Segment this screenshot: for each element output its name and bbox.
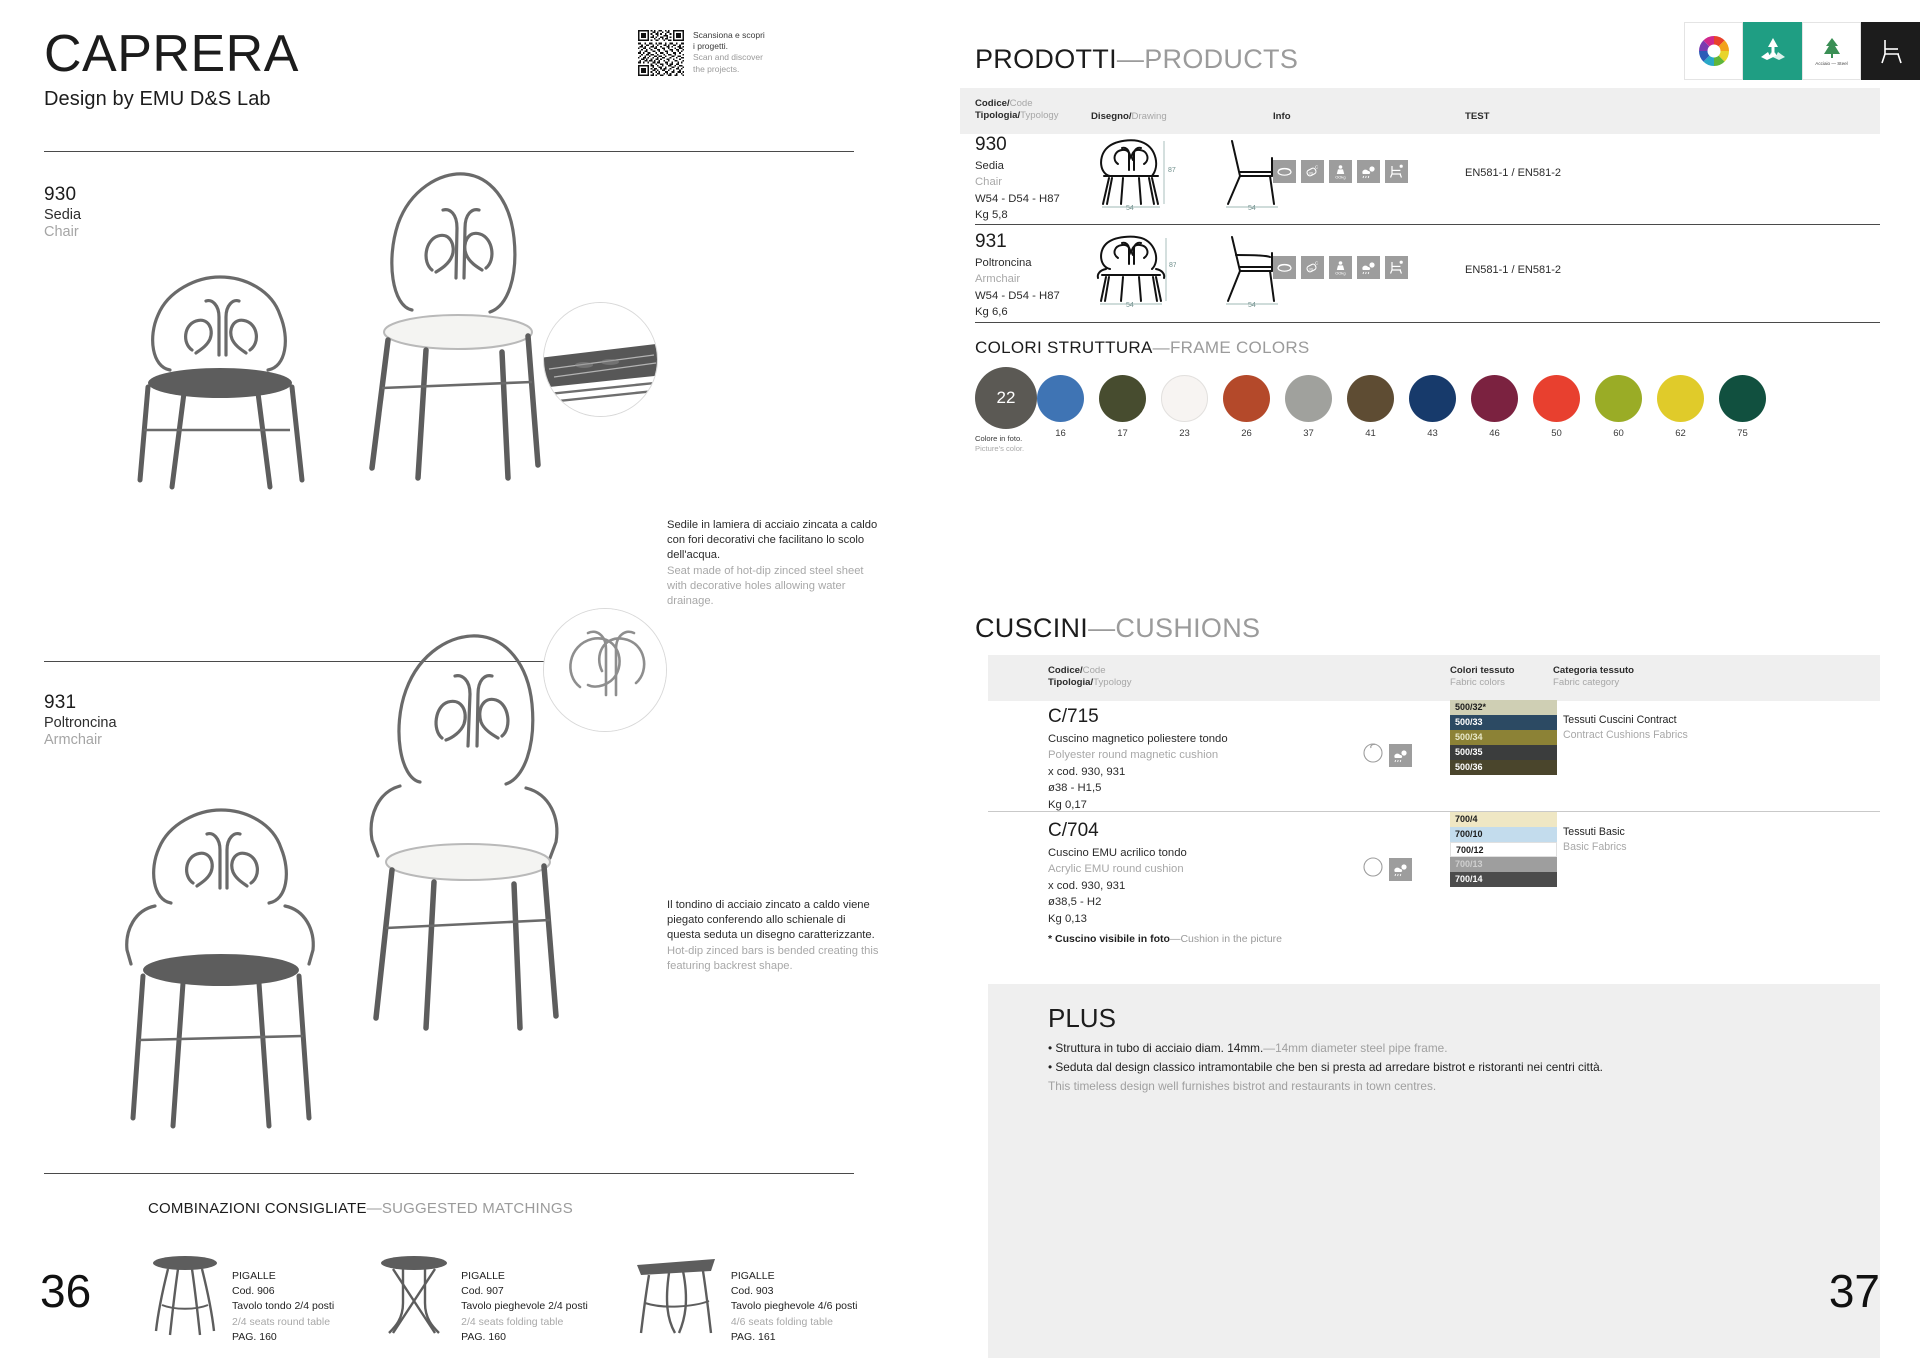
catalog-spread: CAPRERA Design by EMU D&S Lab xyxy=(0,0,1920,1358)
weather-sun-icon xyxy=(1389,858,1412,881)
cushion-715-details: Cuscino magnetico poliestere tondo Polye… xyxy=(1048,731,1228,813)
color-wheel-badge xyxy=(1684,22,1743,80)
plus-title: PLUS xyxy=(1048,1003,1116,1034)
cushion-715-code: C/715 xyxy=(1048,706,1099,728)
fabric-chip[interactable]: 700/4 xyxy=(1450,812,1557,827)
chair-badge xyxy=(1861,22,1920,80)
products-title-it: PRODOTTI xyxy=(975,44,1117,74)
fabric-chip[interactable]: 500/33 xyxy=(1450,715,1557,730)
row-931-depth-label: 54 xyxy=(1248,302,1256,307)
product-code: 930 xyxy=(44,184,81,206)
svg-text:30: 30 xyxy=(1309,267,1314,272)
qr-code-icon[interactable] xyxy=(638,30,684,76)
svg-text:C: C xyxy=(1315,261,1319,266)
cushion-704-icons xyxy=(1362,856,1412,883)
qr-caption-it-2: i progetti. xyxy=(693,41,765,52)
matching-page: PAG. 160 xyxy=(232,1330,334,1345)
page-subtitle: Design by EMU D&S Lab xyxy=(44,88,299,111)
frame-swatch-label: 26 xyxy=(1223,428,1270,439)
matching-cod: Cod. 906 xyxy=(232,1284,334,1299)
qr-block[interactable]: Scansiona e scopri i progetti. Scan and … xyxy=(638,30,765,76)
frame-swatch-dot xyxy=(1347,375,1394,422)
frame-swatch-dot xyxy=(1657,375,1704,422)
frame-color-swatches: 22 16 17 23 26 37 xyxy=(975,367,1766,439)
svg-text:OOkg: OOkg xyxy=(1335,174,1345,179)
row-930-front-drawing: 87 54 xyxy=(1090,138,1176,210)
frame-swatch-dot xyxy=(1595,375,1642,422)
footnote-it: * Cuscino visibile in foto xyxy=(1048,933,1170,945)
qr-caption-en-1: Scan and discover xyxy=(693,52,765,63)
frame-swatch-46[interactable]: 46 xyxy=(1471,375,1518,439)
row-930-details: Sedia Chair W54 - D54 - H87 Kg 5,8 xyxy=(975,158,1060,224)
cushions-table-header: Codice/Code Tipologia/Typology Colori te… xyxy=(988,655,1880,701)
fabric-chip[interactable]: 700/12 xyxy=(1450,842,1557,857)
frame-swatch-22[interactable]: 22 xyxy=(975,367,1022,429)
divider-bottom xyxy=(44,1173,854,1174)
page-number-left: 36 xyxy=(40,1268,91,1314)
weather-sun-icon xyxy=(1389,744,1412,767)
frame-swatch-16[interactable]: 16 xyxy=(1037,375,1084,439)
row-931-details: Poltroncina Armchair W54 - D54 - H87 Kg … xyxy=(975,255,1060,321)
frame-swatch-50[interactable]: 50 xyxy=(1533,375,1580,439)
header-codice: Codice/Code Tipologia/Typology xyxy=(1048,665,1132,690)
frame-swatch-37[interactable]: 37 xyxy=(1285,375,1332,439)
qr-caption: Scansiona e scopri i progetti. Scan and … xyxy=(693,30,765,76)
row-930-test: EN581-1 / EN581-2 xyxy=(1465,167,1561,179)
matchings-row: PIGALLE Cod. 906 Tavolo tondo 2/4 posti … xyxy=(148,1247,858,1345)
frame-colors-note: Colore in foto. Picture's color. xyxy=(975,434,1024,454)
product-name-en: Armchair xyxy=(44,732,117,748)
products-section-title: PRODOTTI—PRODUCTS xyxy=(975,44,1298,75)
matchings-title-it: COMBINAZIONI CONSIGLIATE xyxy=(148,1200,367,1217)
product-label-930: 930 Sedia Chair xyxy=(44,184,81,240)
row-divider-1 xyxy=(975,224,1880,225)
caption-930-en: Seat made of hot-dip zinced steel sheet … xyxy=(667,564,882,610)
matching-desc-en: 2/4 seats folding table xyxy=(461,1315,588,1330)
row-931-height-label: 87 xyxy=(1169,262,1176,269)
round-shape-icon xyxy=(1362,856,1384,883)
cushions-section-title: CUSCINI—CUSHIONS xyxy=(975,613,1260,644)
frame-swatch-23[interactable]: 23 xyxy=(1161,375,1208,439)
cushion-715-category: Tessuti Cuscini Contract Contract Cushio… xyxy=(1563,713,1688,743)
frame-swatch-dot: 22 xyxy=(975,367,1037,429)
row-divider-2 xyxy=(975,322,1880,323)
product-name-it: Poltroncina xyxy=(44,715,117,731)
cushion-704-category: Tessuti Basic Basic Fabrics xyxy=(1563,825,1627,855)
caption-931-en: Hot-dip zinced bars is bended creating t… xyxy=(667,944,882,974)
matching-name: PIGALLE xyxy=(731,1269,858,1284)
stackable-icon xyxy=(1273,160,1296,183)
matching-desc-en: 2/4 seats round table xyxy=(232,1315,334,1330)
svg-text:30: 30 xyxy=(1309,171,1314,176)
round-shape-icon xyxy=(1362,742,1384,769)
footnote-en: Cushion in the picture xyxy=(1180,933,1282,945)
svg-text:C: C xyxy=(1315,165,1319,170)
frame-swatch-43[interactable]: 43 xyxy=(1409,375,1456,439)
fsc-badge: Acciaio — Steel xyxy=(1802,22,1861,80)
frame-swatch-label: 41 xyxy=(1347,428,1394,439)
header-test: TEST xyxy=(1465,111,1490,123)
product-name-en: Chair xyxy=(44,224,81,240)
frame-swatch-label: 16 xyxy=(1037,428,1084,439)
caption-930: Sedile in lamiera di acciaio zincata a c… xyxy=(667,518,882,609)
title-block: CAPRERA Design by EMU D&S Lab xyxy=(44,28,299,111)
cushion-704-details: Cuscino EMU acrilico tondo Acrylic EMU r… xyxy=(1048,845,1187,927)
matching-text: PIGALLE Cod. 906 Tavolo tondo 2/4 posti … xyxy=(232,1247,334,1345)
frame-swatch-label: 17 xyxy=(1099,428,1146,439)
fabric-chip[interactable]: 500/34 xyxy=(1450,730,1557,745)
frame-swatch-dot xyxy=(1037,375,1084,422)
row-931-info-icons: C30 OOkg xyxy=(1273,256,1408,279)
cushions-footnote: * Cuscino visibile in foto—Cushion in th… xyxy=(1048,933,1282,945)
seat-comfort-icon xyxy=(1385,160,1408,183)
frame-swatch-label: 62 xyxy=(1657,428,1704,439)
frame-swatch-dot xyxy=(1099,375,1146,422)
weight-load-icon: OOkg xyxy=(1329,256,1352,279)
row-931-front-drawing: 87 54 xyxy=(1090,235,1176,307)
fabric-chip[interactable]: 700/14 xyxy=(1450,872,1557,887)
header-codice: Codice/Code Tipologia/Typology xyxy=(975,98,1059,123)
frame-swatch-label: 75 xyxy=(1719,428,1766,439)
row-931-width-label: 54 xyxy=(1126,302,1134,307)
page-number-right: 37 xyxy=(1829,1268,1880,1314)
caption-931-it: Il tondino di acciaio zincato a caldo vi… xyxy=(667,898,882,944)
cushion-715-icons xyxy=(1362,742,1412,769)
cushion-row-divider xyxy=(988,811,1880,812)
row-930-depth-label: 54 xyxy=(1248,205,1256,210)
plus-bullet-1: • Struttura in tubo di acciaio diam. 14m… xyxy=(1048,1039,1838,1058)
frame-swatch-dot xyxy=(1161,375,1208,422)
chair-930-front-photo xyxy=(100,255,350,495)
header-fabric-colors: Colori tessuto Fabric colors xyxy=(1450,665,1515,690)
frame-swatch-label: 37 xyxy=(1285,428,1332,439)
matching-text: PIGALLE Cod. 907 Tavolo pieghevole 2/4 p… xyxy=(461,1247,588,1345)
product-code: 931 xyxy=(44,692,117,714)
seat-comfort-icon xyxy=(1385,256,1408,279)
frame-swatch-label: 23 xyxy=(1161,428,1208,439)
header-info: Info xyxy=(1273,111,1291,123)
frame-swatch-dot xyxy=(1719,375,1766,422)
matching-cod: Cod. 907 xyxy=(461,1284,588,1299)
cushion-715-fabric-chips: 500/32* 500/33 500/34 500/35 500/36 xyxy=(1450,700,1557,775)
caption-931: Il tondino di acciaio zincato a caldo vi… xyxy=(667,898,882,974)
frame-swatch-dot xyxy=(1409,375,1456,422)
divider-top xyxy=(44,151,854,152)
matching-desc-it: Tavolo pieghevole 4/6 posti xyxy=(731,1299,858,1314)
frame-swatch-label: 46 xyxy=(1471,428,1518,439)
frame-swatch-dot xyxy=(1223,375,1270,422)
product-label-931: 931 Poltroncina Armchair xyxy=(44,692,117,748)
matching-name: PIGALLE xyxy=(461,1269,588,1284)
plus-bullets: • Struttura in tubo di acciaio diam. 14m… xyxy=(1048,1039,1838,1096)
detail-circle-931 xyxy=(543,608,667,732)
left-page: CAPRERA Design by EMU D&S Lab xyxy=(0,0,960,1358)
page-title: CAPRERA xyxy=(44,28,299,80)
frame-note-it: Colore in foto. xyxy=(975,434,1024,444)
frame-colors-title: COLORI STRUTTURA—FRAME COLORS xyxy=(975,338,1310,358)
table-903-thumbnail xyxy=(631,1247,721,1341)
fsc-badge-caption: Acciaio — Steel xyxy=(1815,61,1847,66)
row-931-test: EN581-1 / EN581-2 xyxy=(1465,264,1561,276)
qr-caption-it-1: Scansiona e scopri xyxy=(693,30,765,41)
cushion-704-code: C/704 xyxy=(1048,820,1099,842)
temperature-icon: C30 xyxy=(1301,256,1324,279)
matching-name: PIGALLE xyxy=(232,1269,334,1284)
frame-colors-title-it: COLORI STRUTTURA xyxy=(975,338,1153,357)
frame-swatch-60[interactable]: 60 xyxy=(1595,375,1642,439)
cushions-title-it: CUSCINI xyxy=(975,613,1088,643)
header-fabric-category: Categoria tessuto Fabric category xyxy=(1553,665,1634,690)
cushions-title-en: CUSHIONS xyxy=(1115,613,1260,643)
frame-swatch-62[interactable]: 62 xyxy=(1657,375,1704,439)
weather-sun-icon xyxy=(1357,256,1380,279)
header-disegno: Disegno/Drawing xyxy=(1091,111,1167,123)
matching-item[interactable]: PIGALLE Cod. 903 Tavolo pieghevole 4/6 p… xyxy=(631,1247,858,1345)
fabric-chip[interactable]: 700/10 xyxy=(1450,827,1557,842)
product-name-it: Sedia xyxy=(44,207,81,223)
table-906-thumbnail xyxy=(148,1247,222,1341)
matching-item[interactable]: PIGALLE Cod. 907 Tavolo pieghevole 2/4 p… xyxy=(377,1247,588,1345)
products-table-header: Codice/Code Tipologia/Typology Disegno/D… xyxy=(960,88,1880,134)
frame-swatch-75[interactable]: 75 xyxy=(1719,375,1766,439)
row-930-height-label: 87 xyxy=(1168,167,1176,174)
matching-cod: Cod. 903 xyxy=(731,1284,858,1299)
matching-desc-it: Tavolo pieghevole 2/4 posti xyxy=(461,1299,588,1314)
badge-strip: Acciaio — Steel xyxy=(1684,22,1920,80)
frame-swatch-dot xyxy=(1285,375,1332,422)
frame-swatch-label: 43 xyxy=(1409,428,1456,439)
row-930-code: 930 xyxy=(975,134,1007,156)
fabric-chip[interactable]: 500/36 xyxy=(1450,760,1557,775)
frame-swatch-17[interactable]: 17 xyxy=(1099,375,1146,439)
stackable-icon xyxy=(1273,256,1296,279)
matching-text: PIGALLE Cod. 903 Tavolo pieghevole 4/6 p… xyxy=(731,1247,858,1345)
frame-swatch-label: 50 xyxy=(1533,428,1580,439)
recycle-badge xyxy=(1743,22,1802,80)
fabric-chip[interactable]: 700/13 xyxy=(1450,857,1557,872)
table-907-thumbnail xyxy=(377,1247,451,1341)
frame-swatch-41[interactable]: 41 xyxy=(1347,375,1394,439)
frame-swatch-dot xyxy=(1471,375,1518,422)
cushion-704-fabric-chips: 700/4 700/10 700/12 700/13 700/14 xyxy=(1450,812,1557,887)
products-title-en: PRODUCTS xyxy=(1144,44,1298,74)
chair-930-angle-photo xyxy=(330,160,560,490)
row-931-code: 931 xyxy=(975,231,1007,253)
matching-desc-en: 4/6 seats folding table xyxy=(731,1315,858,1330)
weight-load-icon: OOkg xyxy=(1329,160,1352,183)
frame-note-en: Picture's color. xyxy=(975,444,1024,454)
frame-swatch-label: 60 xyxy=(1595,428,1642,439)
qr-caption-en-2: the projects. xyxy=(693,64,765,75)
row-930-info-icons: C30 OOkg xyxy=(1273,160,1408,183)
frame-swatch-26[interactable]: 26 xyxy=(1223,375,1270,439)
row-930-width-label: 54 xyxy=(1126,205,1134,210)
right-page: Acciaio — Steel PRODOTTI—PRODUCTS Codice… xyxy=(960,0,1920,1358)
plus-bullet-2: • Seduta dal design classico intramontab… xyxy=(1048,1058,1838,1096)
fabric-chip[interactable]: 500/32* xyxy=(1450,700,1557,715)
matching-page: PAG. 160 xyxy=(461,1330,588,1345)
frame-colors-title-en: FRAME COLORS xyxy=(1170,338,1310,357)
matchings-title: COMBINAZIONI CONSIGLIATE—SUGGESTED MATCH… xyxy=(148,1200,573,1217)
weather-sun-icon xyxy=(1357,160,1380,183)
fabric-chip[interactable]: 500/35 xyxy=(1450,745,1557,760)
caption-930-it: Sedile in lamiera di acciaio zincata a c… xyxy=(667,518,882,564)
matchings-title-en: SUGGESTED MATCHINGS xyxy=(382,1200,573,1217)
svg-text:OOkg: OOkg xyxy=(1335,270,1345,275)
temperature-icon: C30 xyxy=(1301,160,1324,183)
detail-circle-930 xyxy=(543,302,658,417)
matching-item[interactable]: PIGALLE Cod. 906 Tavolo tondo 2/4 posti … xyxy=(148,1247,334,1345)
matching-page: PAG. 161 xyxy=(731,1330,858,1345)
matching-desc-it: Tavolo tondo 2/4 posti xyxy=(232,1299,334,1314)
frame-swatch-dot xyxy=(1533,375,1580,422)
